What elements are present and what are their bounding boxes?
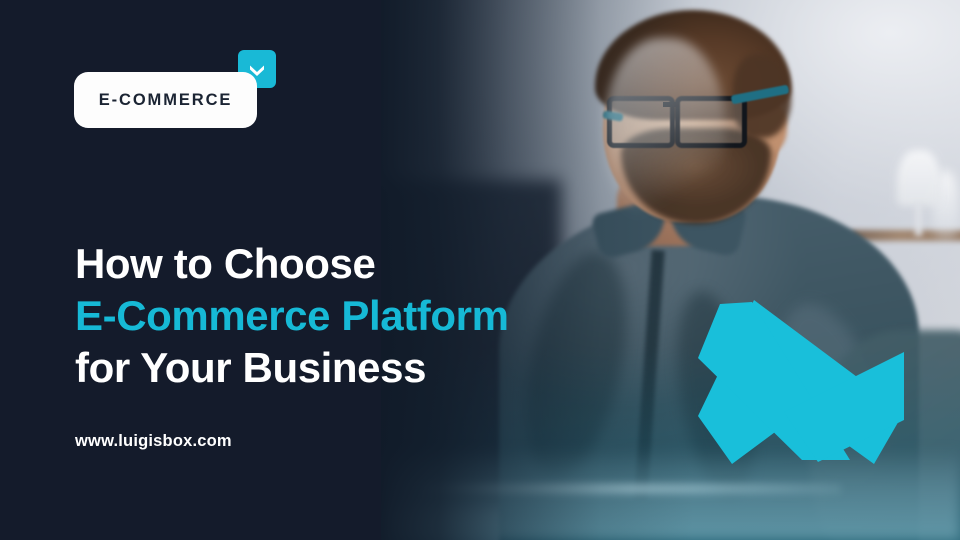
badge-pill: E-COMMERCE — [74, 72, 257, 128]
badge-label: E-COMMERCE — [99, 91, 233, 110]
headline-line-1: How to Choose — [75, 238, 635, 290]
page-title: How to Choose E-Commerce Platform for Yo… — [75, 238, 635, 394]
category-badge[interactable]: E-COMMERCE — [74, 50, 276, 128]
headline-line-2: E-Commerce Platform — [75, 290, 635, 342]
promo-banner: E-COMMERCE How to Choose E-Commerce Plat… — [0, 0, 960, 540]
website-url[interactable]: www.luigisbox.com — [75, 432, 232, 451]
luigisbox-check-logo — [698, 300, 904, 464]
headline-line-3: for Your Business — [75, 342, 635, 394]
